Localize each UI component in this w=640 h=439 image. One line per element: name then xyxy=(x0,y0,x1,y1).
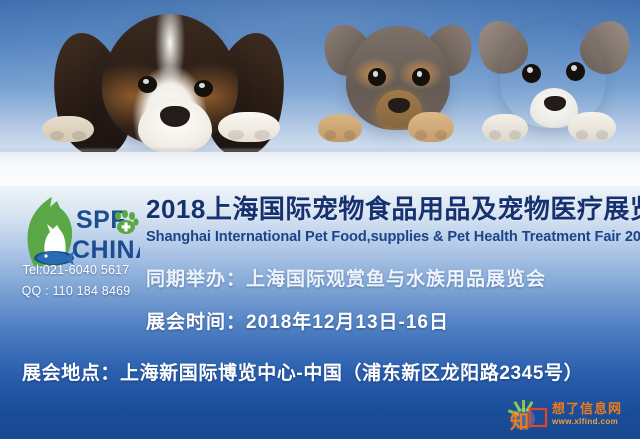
spf-china-logo: SPF CHINA xyxy=(16,192,140,270)
grey-white-puppy xyxy=(478,12,630,162)
fair-venue: 展会地点：上海新国际博览中心-中国（浦东新区龙阳路2345号） xyxy=(22,362,583,386)
puppy-eye-right xyxy=(412,68,430,86)
pet-fair-poster: SPF CHINA Tel:021-6040 5617 QQ : 110 184… xyxy=(0,0,640,439)
white-ledge xyxy=(0,152,640,186)
puppy-paw-right xyxy=(218,112,280,142)
watermark-url: www.xlfind.com xyxy=(552,416,636,427)
info-banner: SPF CHINA Tel:021-6040 5617 QQ : 110 184… xyxy=(0,186,640,439)
three-puppies-photo xyxy=(0,0,640,186)
puppy-eye-left xyxy=(138,76,157,93)
svg-text:知: 知 xyxy=(510,410,529,433)
watermark-text-block: 想了信息网 www.xlfind.com xyxy=(552,401,636,427)
puppy-paw-right xyxy=(408,112,454,142)
puppy-eye-right xyxy=(194,80,213,97)
fair-title-english: Shanghai International Pet Food,supplies… xyxy=(146,228,640,246)
puppy-paw-left xyxy=(42,116,94,142)
cavalier-king-charles-spaniel-puppy xyxy=(42,2,292,162)
puppy-paw-left xyxy=(318,114,362,142)
qq-text: QQ : 110 184 8469 xyxy=(6,281,146,302)
concurrent-event: 同期举办：上海国际观赏鱼与水族用品展览会 xyxy=(146,268,546,292)
xlfind-watermark: 知 想了信息网 www.xlfind.com xyxy=(502,399,636,435)
contact-block: Tel:021-6040 5617 QQ : 110 184 8469 xyxy=(6,260,146,302)
puppy-eye-right xyxy=(566,62,585,81)
telephone-text: Tel:021-6040 5617 xyxy=(6,260,146,281)
tan-grey-terrier-puppy xyxy=(322,12,472,162)
watermark-logo-icon: 知 xyxy=(502,399,548,433)
fair-date: 展会时间：2018年12月13日-16日 xyxy=(146,311,449,335)
puppy-paw-right xyxy=(568,112,616,142)
puppy-eye-left xyxy=(368,68,386,86)
fair-title-chinese: 2018上海国际宠物食品用品及宠物医疗展览会 xyxy=(146,194,640,224)
puppy-eye-left xyxy=(522,64,541,83)
puppy-paw-left xyxy=(482,114,528,142)
watermark-site-name: 想了信息网 xyxy=(552,401,636,416)
